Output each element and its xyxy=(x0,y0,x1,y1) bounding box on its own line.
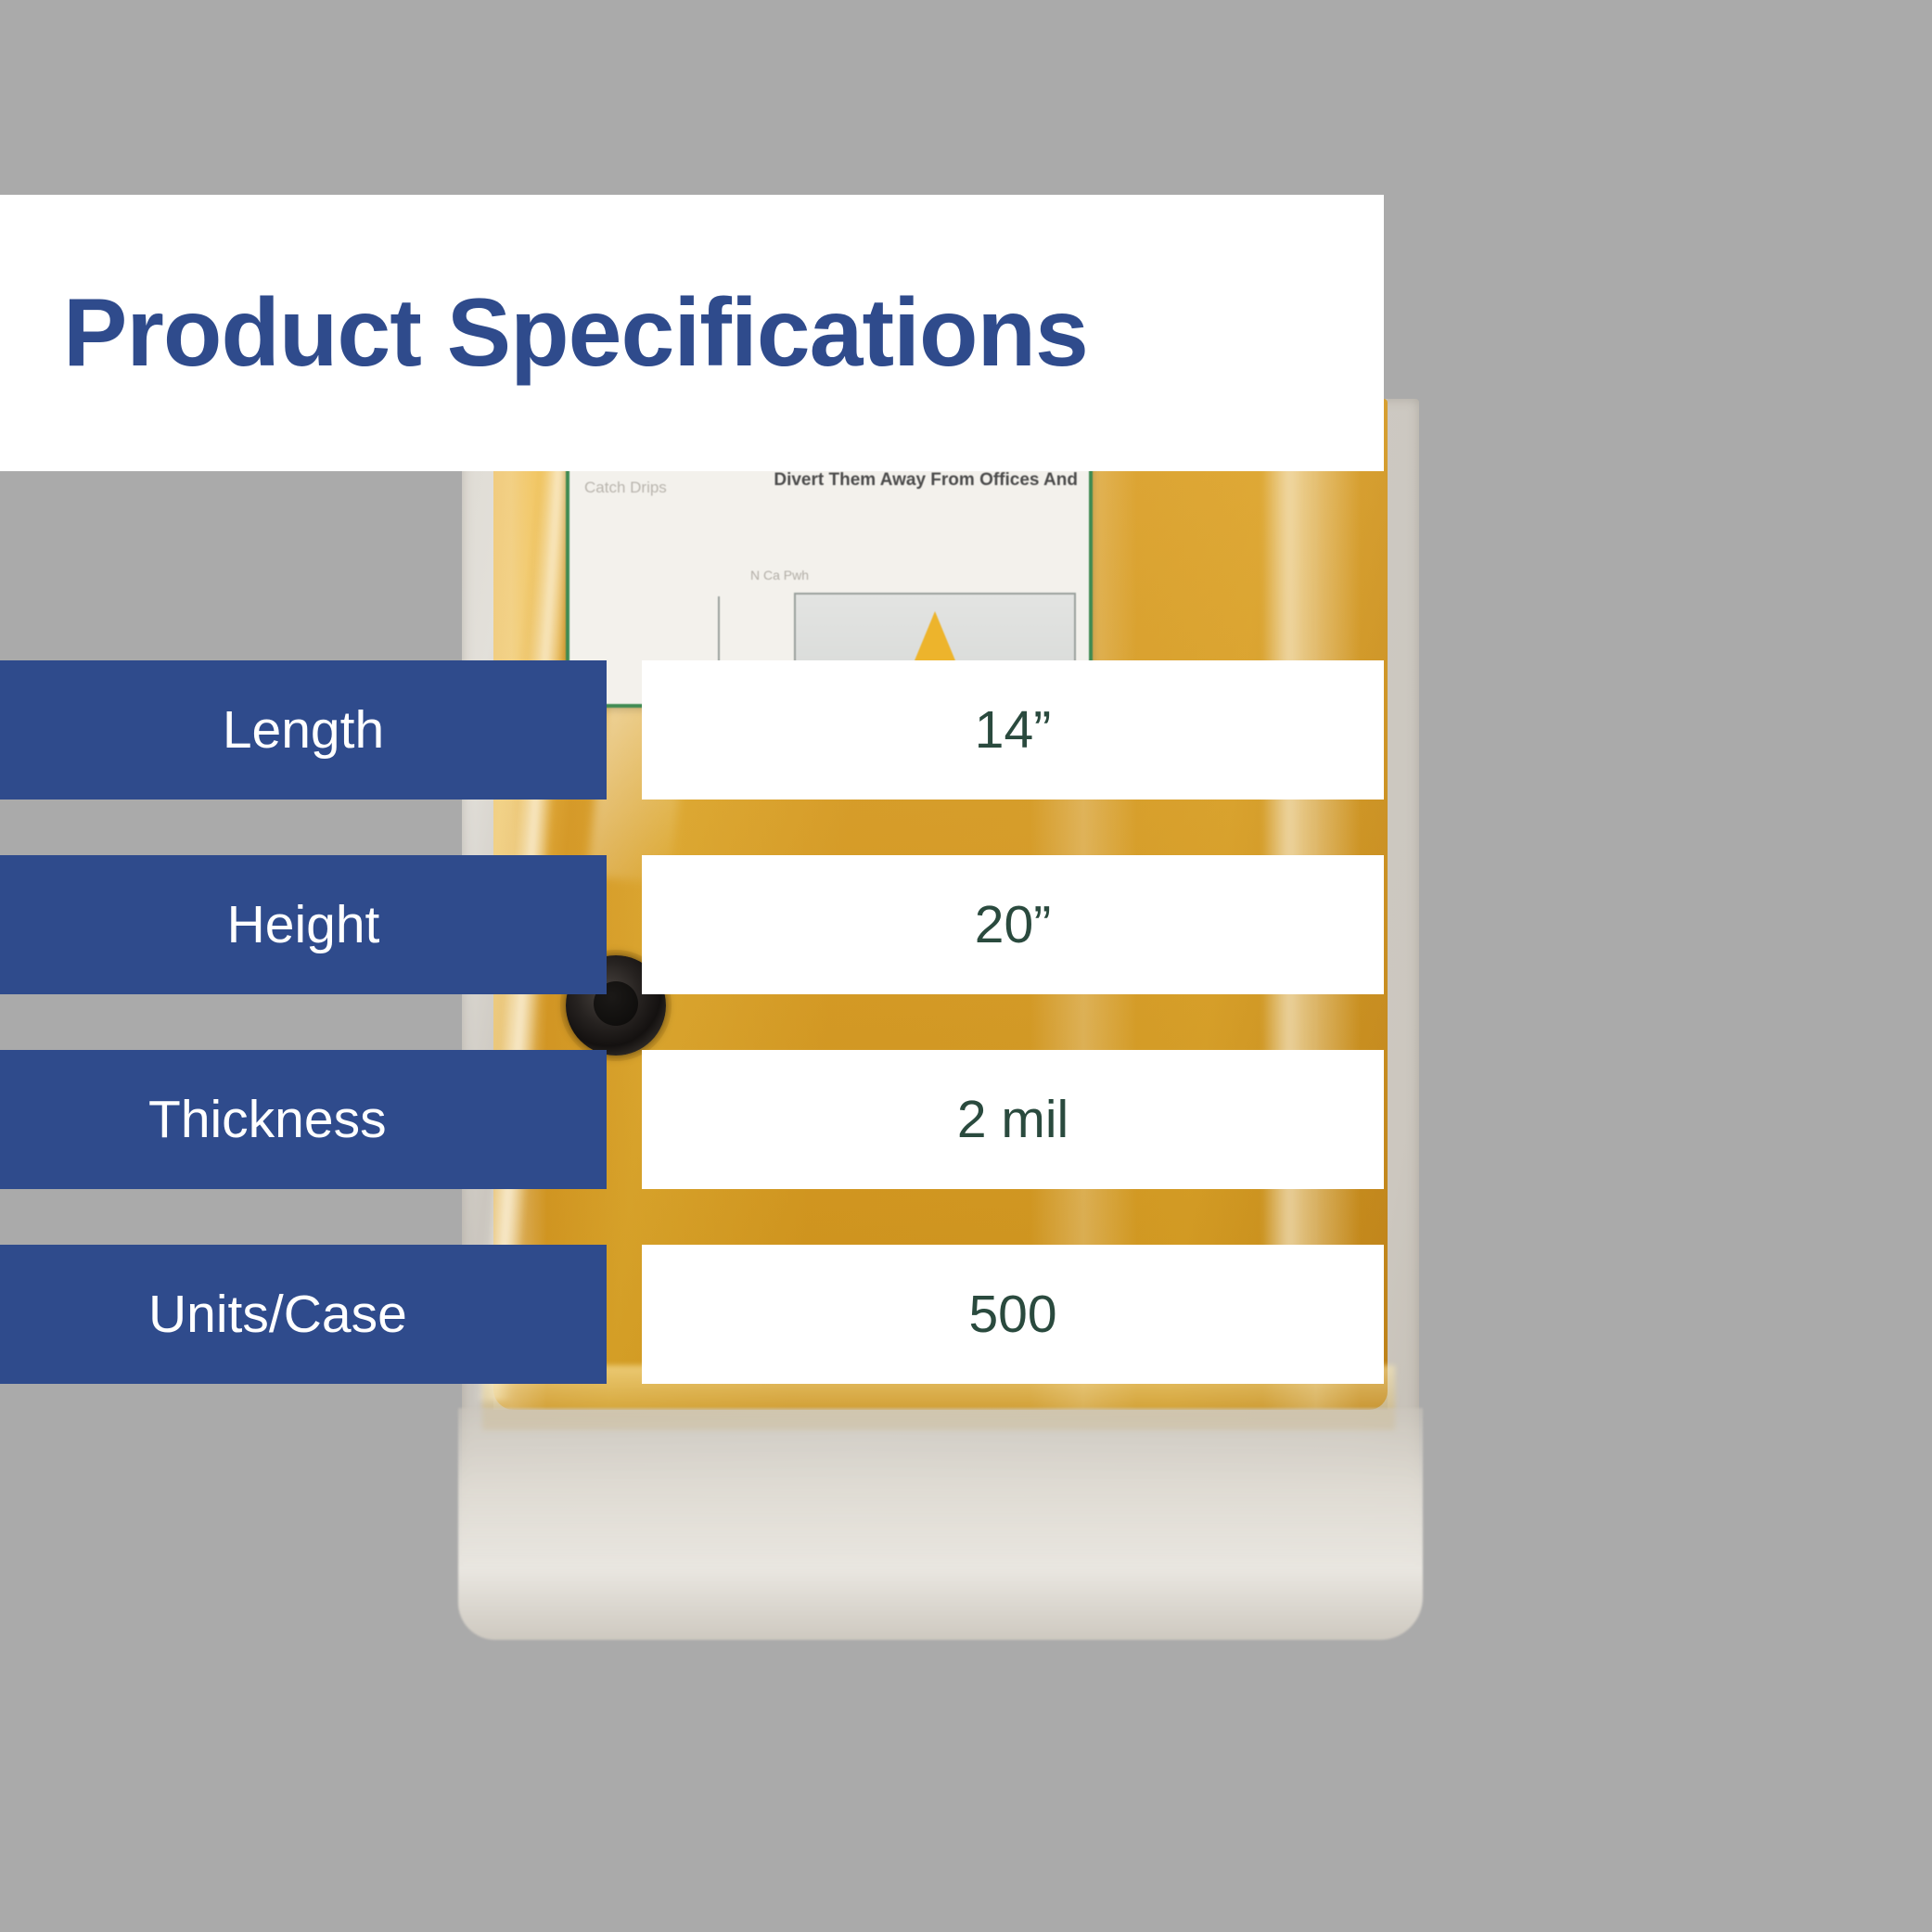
spec-row: Units/Case500 xyxy=(0,1245,1384,1384)
spec-row-label: Length xyxy=(0,660,607,800)
spec-row: Height20” xyxy=(0,855,1384,994)
bag-body: ULTRA-DRIP DIVERTER Divert Them Away Fro… xyxy=(445,399,1428,1679)
spec-row: Thickness2 mil xyxy=(0,1050,1384,1189)
poly-sleeve-bottom xyxy=(458,1408,1423,1640)
product-label-line1: Catch Drips xyxy=(584,472,667,504)
spec-row-label: Thickness xyxy=(0,1050,607,1189)
spec-row-value: 500 xyxy=(642,1245,1384,1384)
title-banner: Product Specifications xyxy=(0,195,1384,471)
spec-row: Length14” xyxy=(0,660,1384,800)
spec-row-label: Units/Case xyxy=(0,1245,607,1384)
product-label-small-text: N Ca Pwh xyxy=(750,565,809,585)
page-title: Product Specifications xyxy=(63,278,1088,389)
spec-row-value: 2 mil xyxy=(642,1050,1384,1189)
spec-row-value: 20” xyxy=(642,855,1384,994)
product-label-subtitle: Divert Them Away From Offices And xyxy=(774,470,1078,491)
product-photo: ULTRA-DRIP DIVERTER Divert Them Away Fro… xyxy=(445,399,1428,1679)
spec-row-label: Height xyxy=(0,855,607,994)
spec-row-value: 14” xyxy=(642,660,1384,800)
